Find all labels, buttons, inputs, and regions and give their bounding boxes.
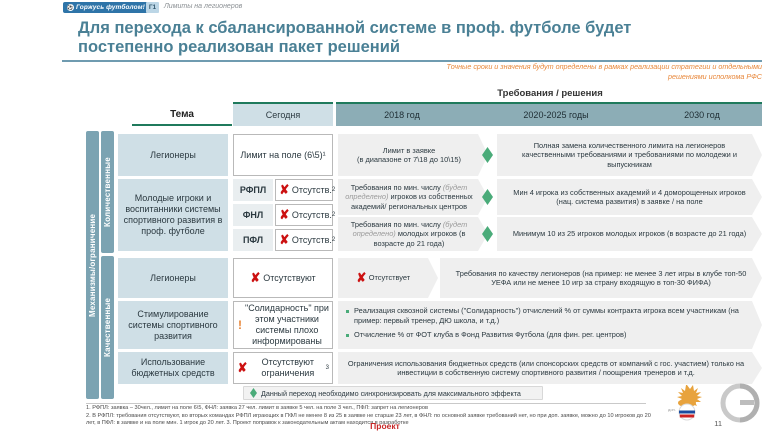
cross-icon: ✘	[280, 185, 290, 195]
today-pfl-label: Отсутств.	[292, 235, 332, 246]
league-label-pfl: ПФЛ	[233, 229, 273, 251]
draft-label: Проект	[0, 421, 770, 431]
today-legionnaires-qualitative: ✘ Отсутствуют	[233, 258, 333, 298]
today-budget-label: Отсутствуют ограничения	[250, 357, 326, 379]
today-legionnaires-qual-label: Отсутствуют	[263, 273, 315, 284]
rfu-eagle-logo: доп.	[666, 381, 708, 425]
svg-text:доп.: доп.	[668, 407, 676, 412]
column-header-today: Сегодня	[233, 102, 333, 126]
bottom-note-label: Данный переход необходимо синхронизирова…	[261, 389, 521, 398]
cell-2030-budget: Ограничения использования бюджетных сред…	[338, 352, 762, 384]
bottom-note: Данный переход необходимо синхронизирова…	[243, 386, 543, 400]
cross-icon: ✘	[238, 363, 248, 373]
cell-2018-academy-players: Требования по мин. числу (будет определе…	[338, 179, 488, 215]
today-pfl: ✘ Отсутств.2	[275, 229, 333, 251]
today-fnl-sup: 2	[332, 210, 335, 221]
brand-label: Горжусь футболом!	[76, 4, 145, 11]
theme-legionnaires-qualitative: Легионеры	[118, 258, 228, 298]
column-header-theme: Тема	[138, 104, 226, 124]
cell-2030-legionnaires-qualitative: Требования по качеству легионеров (на пр…	[440, 258, 762, 298]
cell-2018-legionnaires-line1: Лимит в заявке	[357, 146, 461, 155]
brand-badge[interactable]: ⚽ Горжусь футболом!	[63, 2, 149, 13]
league-label-rfpl: РФПЛ	[233, 179, 273, 201]
today-rfpl-sup: 2	[332, 185, 335, 196]
cell-2030-academy-players: Мин 4 игрока из собственных академий и 4…	[497, 179, 762, 215]
top-bar-subtitle: Лимиты на легионеров	[164, 3, 242, 10]
theme-underline	[132, 124, 232, 126]
cell-2018-u21-pre: Требования по мин. числу	[351, 220, 443, 229]
requirements-caption: Требования / решения	[330, 88, 770, 99]
page-title: Для перехода к сбалансированной системе …	[78, 19, 638, 57]
cross-icon: ✘	[251, 273, 261, 283]
column-header-2030: 2030 год	[646, 104, 758, 126]
today-stimulation: ! "Солидарность" при этом участники сист…	[233, 301, 333, 349]
cell-2030-legionnaires: Полная замена количественного лимита на …	[497, 134, 762, 176]
today-rfpl-label: Отсутств.	[292, 185, 332, 196]
cell-stimulation-bullets: Реализация сквозной системы ("Солидарнос…	[338, 301, 762, 349]
list-item: Реализация сквозной системы ("Солидарнос…	[346, 306, 746, 326]
section-chip-g1: Г1	[146, 2, 159, 13]
column-header-2018: 2018 год	[342, 104, 462, 126]
football-icon: ⚽	[67, 4, 74, 11]
column-header-2020-2025: 2020-2025 годы	[476, 104, 636, 126]
cell-2018-legionnaires-qual-label: Отсутствует	[369, 273, 410, 282]
footnote-divider	[86, 403, 646, 404]
list-item: Отчисление % от ФОТ клуба в Фонд Развити…	[346, 330, 746, 340]
today-rfpl: ✘ Отсутств.2	[275, 179, 333, 201]
side-label-quantitative: Количественные	[101, 131, 114, 253]
today-budget-sup: 3	[326, 363, 329, 374]
today-pfl-sup: 2	[332, 235, 335, 246]
cross-icon: ✘	[356, 273, 366, 283]
diamond-icon	[250, 388, 257, 398]
today-legionnaires-quantitative: Лимит на поле (6\5)¹	[233, 134, 333, 176]
cell-2018-legionnaires: Лимит в заявке (в диапазоне от 7\18 до 1…	[338, 134, 488, 176]
column-header-band: 2018 год 2020-2025 годы 2030 год	[336, 102, 762, 126]
cell-2018-legionnaires-line2: (в диапазоне от 7\18 до 10\15)	[357, 155, 461, 164]
cell-2018-legionnaires-qualitative: ✘ Отсутствует	[338, 258, 438, 298]
side-label-mechanisms: Механизмы/ограничение	[86, 131, 99, 399]
cell-2018-academy-pre: Требования по мин. числу	[351, 183, 443, 192]
league-label-fnl: ФНЛ	[233, 204, 273, 226]
cross-icon: ✘	[280, 210, 290, 220]
cell-2030-u21-players: Минимум 10 из 25 игроков молодых игроков…	[497, 217, 762, 251]
cross-icon: ✘	[280, 235, 290, 245]
side-label-qualitative: Качественные	[101, 256, 114, 399]
theme-budget: Использование бюджетных средств	[118, 352, 228, 384]
cell-2018-u21-players: Требования по мин. числу (будет определе…	[338, 217, 488, 251]
theme-legionnaires-quantitative: Легионеры	[118, 134, 228, 176]
footnote-1: 1. РФПЛ: заявка – 30чел., лимит на поле …	[86, 405, 661, 413]
orange-disclaimer: Точные сроки и значения будут определены…	[432, 62, 762, 81]
theme-stimulation: Стимулирование системы спортивного разви…	[118, 301, 228, 349]
company-g-logo	[718, 381, 762, 425]
top-bar: ⚽ Горжусь футболом! Г1 Лимиты на легионе…	[0, 0, 770, 16]
theme-young-players: Молодые игроки и воспитанники системы сп…	[118, 179, 228, 251]
today-fnl-label: Отсутств.	[292, 210, 332, 221]
today-fnl: ✘ Отсутств.2	[275, 204, 333, 226]
today-stimulation-label: "Солидарность" при этом участники систем…	[245, 303, 329, 347]
today-budget: ✘ Отсутствуют ограничения3	[233, 352, 333, 384]
slide: ⚽ Горжусь футболом! Г1 Лимиты на легионе…	[0, 0, 770, 434]
warning-exclamation-icon: !	[238, 321, 242, 330]
